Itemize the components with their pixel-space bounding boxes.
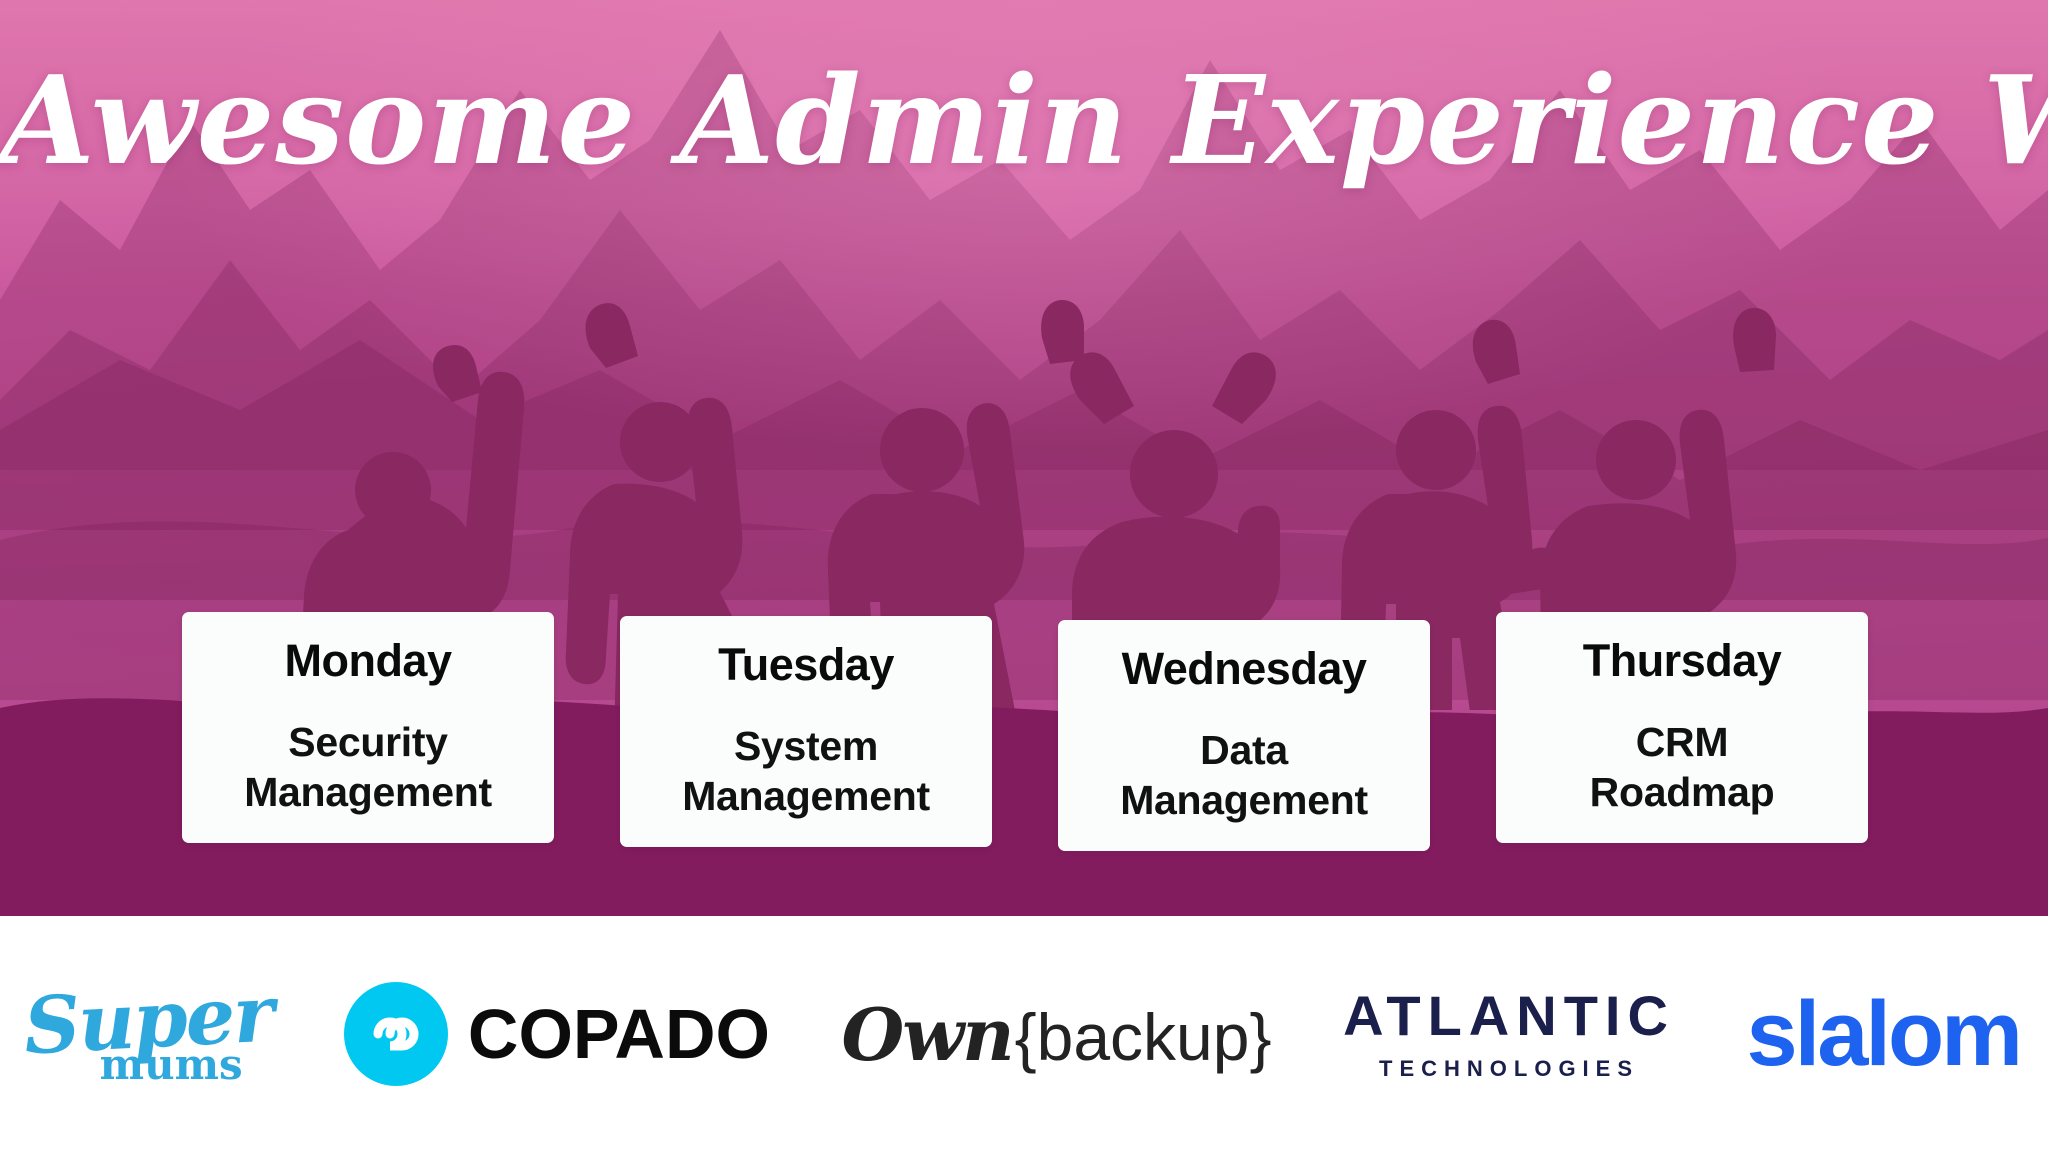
hero-banner: Awesome Admin Experience Week Monday Sec… [0,0,2048,916]
day-card-day-label: Thursday [1583,638,1782,683]
sponsor-logo-ownbackup[interactable]: Own {backup} [842,992,1272,1077]
atlantic-tagline: TECHNOLOGIES [1379,1058,1639,1080]
slalom-wordmark: slalom [1747,988,2020,1080]
poster-canvas: Awesome Admin Experience Week Monday Sec… [0,0,2048,1152]
sponsor-logo-slalom[interactable]: slalom [1747,988,2020,1080]
sponsor-logo-row: Super mums COPADO Own {backup} ATLANTIC … [0,982,2048,1086]
day-card-wednesday[interactable]: Wednesday Data Management [1058,620,1430,851]
day-card-list: Monday Security Management Tuesday Syste… [182,612,1868,862]
ownbackup-script-word: Own [842,992,1013,1077]
mountain-ridge-near-icon [0,180,2048,600]
day-card-topic-line1: CRM [1636,719,1728,765]
day-card-day-label: Wednesday [1122,646,1367,691]
day-card-thursday[interactable]: Thursday CRM Roadmap [1496,612,1868,843]
sponsor-logo-supermums[interactable]: Super mums [24,982,272,1086]
day-card-topic-line2: Management [1120,775,1368,825]
day-card-topic: Security Management [244,717,492,817]
sponsor-footer: Super mums COPADO Own {backup} ATLANTIC … [0,916,2048,1152]
day-card-topic-line2: Management [244,767,492,817]
copado-infinity-icon [344,982,448,1086]
supermums-script-word: Super [22,976,274,1067]
day-card-topic: System Management [682,721,930,821]
day-card-day-label: Monday [284,638,451,683]
day-card-monday[interactable]: Monday Security Management [182,612,554,843]
day-card-topic-line2: Management [682,771,930,821]
day-card-topic: Data Management [1120,725,1368,825]
day-card-topic-line1: System [734,723,878,769]
day-card-topic-line1: Data [1200,727,1288,773]
page-title: Awesome Admin Experience Week [0,56,2048,184]
day-card-tuesday[interactable]: Tuesday System Management [620,616,992,847]
day-card-topic: CRM Roadmap [1590,717,1775,817]
sponsor-logo-atlantic[interactable]: ATLANTIC TECHNOLOGIES [1343,988,1675,1080]
day-card-topic-line1: Security [288,719,447,765]
ownbackup-bracket-word: {backup} [1015,999,1272,1075]
atlantic-wordmark: ATLANTIC [1343,988,1675,1044]
copado-wordmark: COPADO [468,994,770,1074]
day-card-day-label: Tuesday [718,642,894,687]
sponsor-logo-copado[interactable]: COPADO [344,982,770,1086]
day-card-topic-line2: Roadmap [1590,767,1775,817]
